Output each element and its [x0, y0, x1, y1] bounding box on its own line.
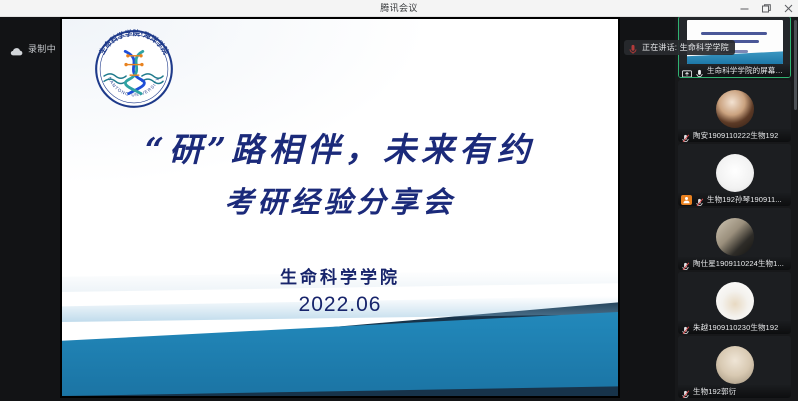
participant-tile[interactable]: 陶安1909110222生物192 — [678, 80, 791, 142]
tile-footer: 生命科学学院的屏幕儿... — [679, 64, 790, 77]
avatar — [716, 346, 754, 384]
tile-footer: 朱越1909110230生物192 — [678, 321, 791, 334]
participant-name: 陶安1909110222生物192 — [693, 130, 778, 141]
avatar — [716, 218, 754, 256]
tile-footer: 陶仕星1909110224生物1... — [678, 257, 791, 270]
tile-footer: 生物192孙琴190911... — [678, 193, 791, 206]
mic-muted-icon — [681, 387, 690, 397]
participant-name: 生物192孙琴190911... — [707, 194, 782, 205]
mic-muted-icon — [695, 195, 704, 205]
restore-icon[interactable] — [761, 3, 772, 14]
host-icon — [681, 195, 692, 205]
tile-footer: 生物192郭衍 — [678, 385, 791, 398]
recording-indicator: 录制中 — [10, 42, 56, 55]
avatar — [716, 90, 754, 128]
slide-date: 2022.06 — [62, 293, 618, 317]
avatar — [716, 154, 754, 192]
cloud-record-icon — [10, 44, 23, 54]
participant-name: 生物192郭衍 — [693, 386, 736, 397]
mic-muted-icon — [695, 66, 704, 76]
scrollbar-thumb[interactable] — [794, 20, 797, 110]
window-controls — [739, 0, 794, 16]
participant-name: 陶仕星1909110224生物1... — [693, 258, 784, 269]
slide-subtitle: 考研经验分享会 — [62, 179, 618, 221]
slide-letterbox: 生命科学学院·海洋学院 NANTONG UNIVERSITY — [60, 17, 620, 398]
window-title: 腾讯会议 — [0, 1, 798, 15]
mic-muted-icon — [681, 259, 690, 269]
participant-name: 朱越1909110230生物192 — [693, 322, 778, 333]
participant-tile[interactable]: 生物192孙琴190911... — [678, 144, 791, 206]
recording-label: 录制中 — [28, 42, 56, 55]
participant-tile-list[interactable]: 生命科学学院的屏幕儿... — [678, 16, 792, 401]
mic-muted-icon — [681, 131, 690, 141]
minimize-icon[interactable] — [739, 3, 750, 14]
participant-scrollbar[interactable] — [794, 18, 797, 401]
participant-panel: 正在讲话: 生命科学学院 — [675, 16, 798, 401]
close-icon[interactable] — [783, 3, 794, 14]
slide-organization: 生命科学学院 — [62, 263, 618, 288]
slide-title: “研”路相伴，未来有约 — [62, 123, 618, 171]
tencent-meeting-window: 腾讯会议 — [0, 0, 798, 401]
active-speaker-label: 正在讲话: 生命科学学院 — [642, 42, 729, 53]
share-screen-icon — [682, 66, 692, 75]
university-logo-icon: 生命科学学院·海洋学院 NANTONG UNIVERSITY — [90, 25, 178, 113]
shared-screen-stage[interactable]: 录制中 — [0, 16, 675, 401]
participant-tile[interactable]: 朱越1909110230生物192 — [678, 272, 791, 334]
presentation-slide: 生命科学学院·海洋学院 NANTONG UNIVERSITY — [62, 19, 618, 396]
participant-tile[interactable]: 陶仕星1909110224生物1... — [678, 208, 791, 270]
speaking-wave-icon — [628, 42, 638, 53]
participant-tile[interactable]: 生物192郭衍 — [678, 336, 791, 398]
title-bar: 腾讯会议 — [0, 0, 798, 17]
mic-muted-icon — [681, 323, 690, 333]
active-speaker-badge: 正在讲话: 生命科学学院 — [624, 40, 735, 55]
avatar — [716, 282, 754, 320]
tile-footer: 陶安1909110222生物192 — [678, 129, 791, 142]
participant-name: 生命科学学院的屏幕儿... — [707, 65, 787, 76]
